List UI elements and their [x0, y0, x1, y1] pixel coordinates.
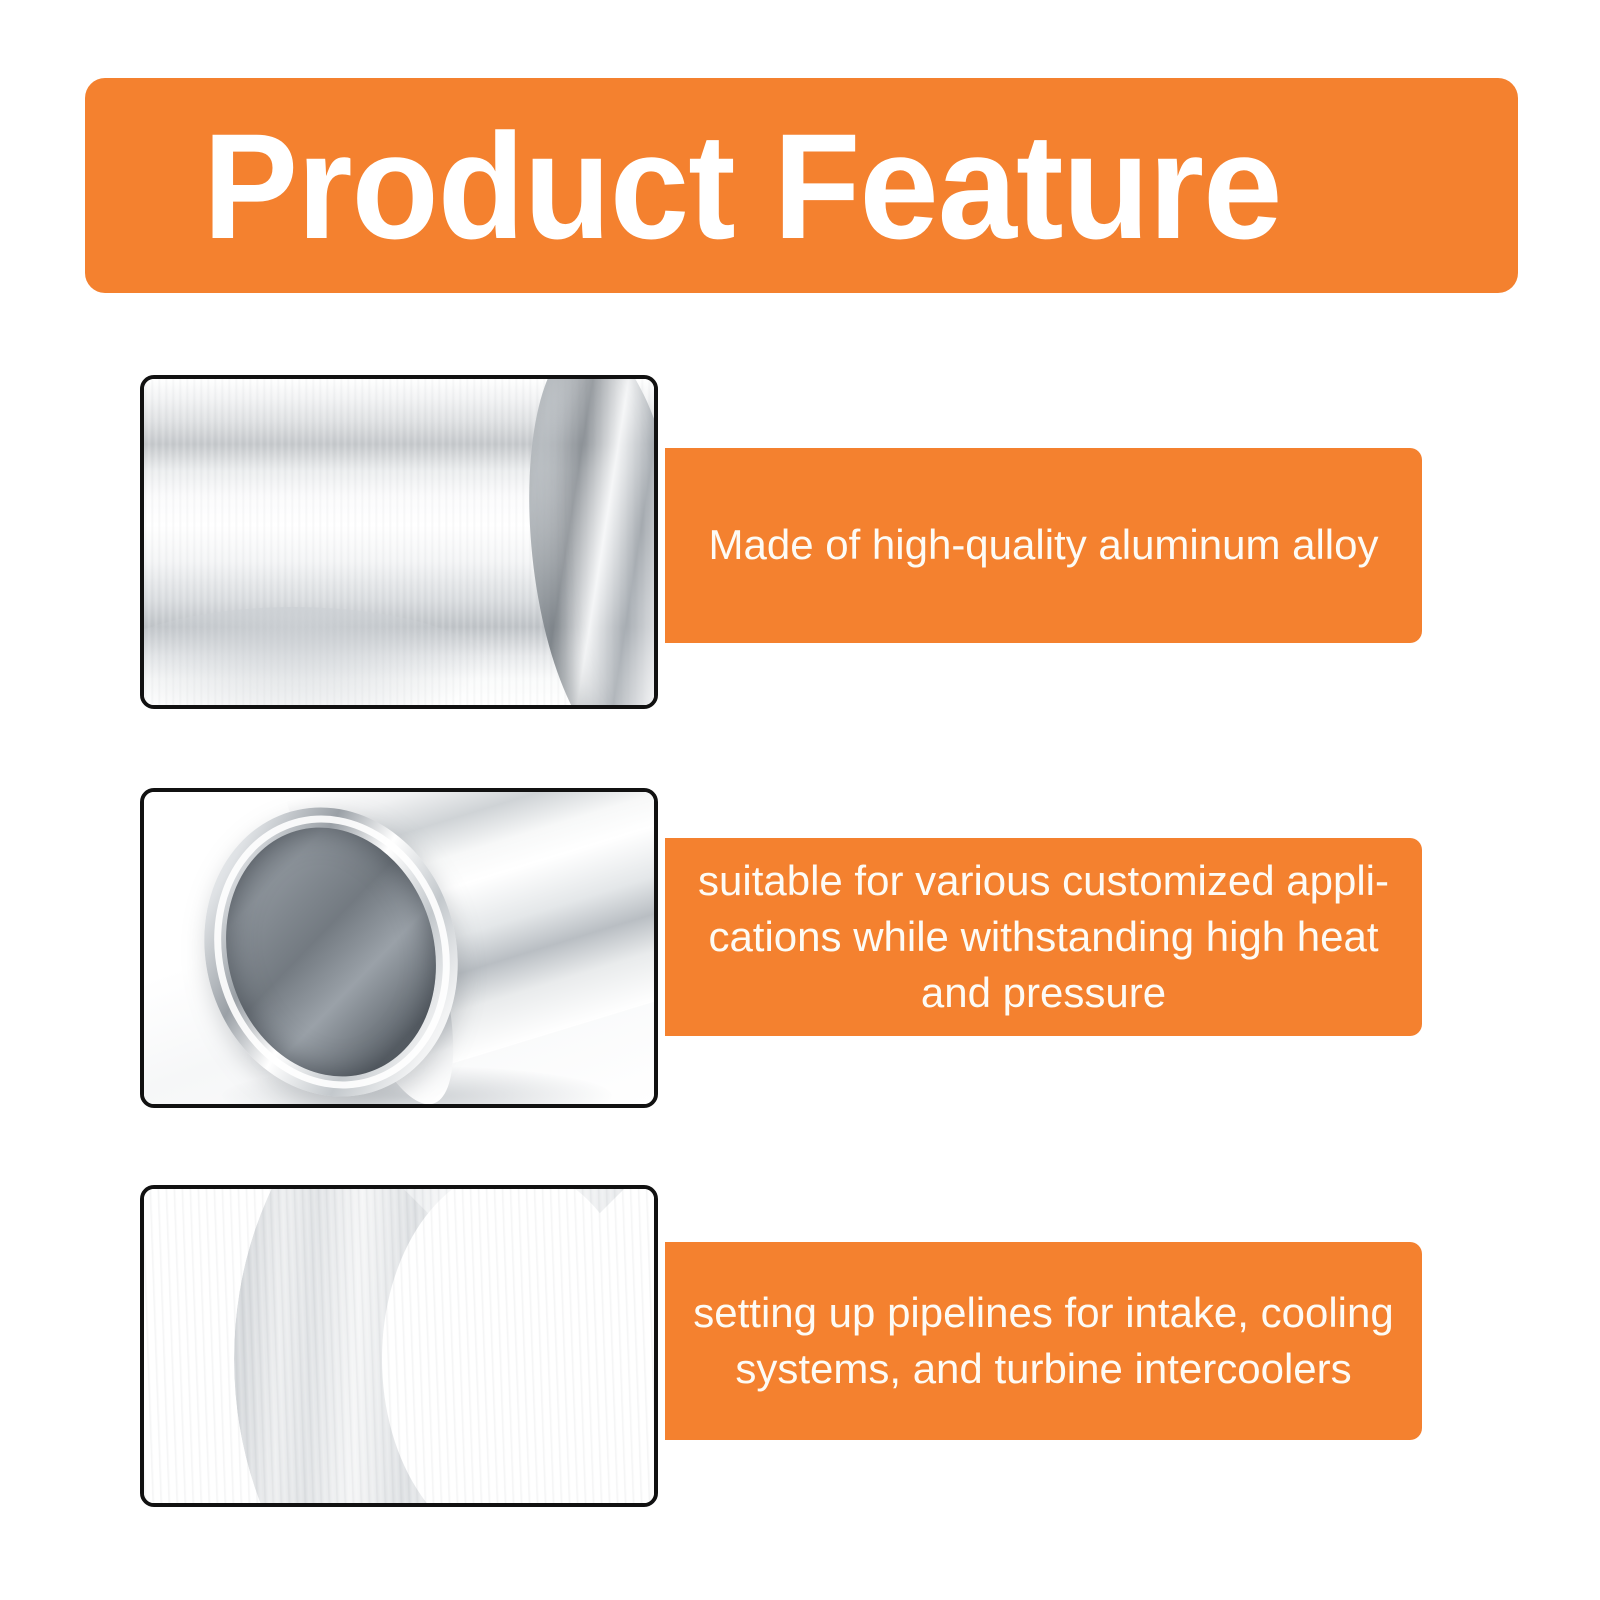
aluminum-pipe-elbow-bend-photo [144, 1189, 654, 1503]
aluminum-pipe-straight-brushed-photo [144, 379, 654, 705]
feature-text-line: cations while withstanding high heat [698, 909, 1389, 965]
pipe-elbow-body [234, 1189, 654, 1503]
feature-text-line: suitable for various customized appli- [698, 853, 1389, 909]
feature-image-card [140, 1185, 658, 1507]
feature-image-card [140, 375, 658, 709]
page-title: Product Feature [203, 111, 1281, 261]
feature-image-card [140, 788, 658, 1108]
aluminum-pipe-open-end-photo [144, 792, 654, 1104]
header-banner: Product Feature [85, 78, 1518, 293]
feature-row: suitable for various customized appli- c… [0, 788, 1600, 1108]
feature-text-line: systems, and turbine intercoolers [693, 1341, 1393, 1397]
feature-text-panel: Made of high-quality aluminum alloy [665, 448, 1422, 643]
feature-row: setting up pipelines for intake, cooling… [0, 1185, 1600, 1507]
feature-text-line: and pressure [698, 965, 1389, 1021]
pipe-bend-shading [144, 607, 504, 705]
feature-row: Made of high-quality aluminum alloy [0, 375, 1600, 710]
feature-text-panel: setting up pipelines for intake, cooling… [665, 1242, 1422, 1440]
feature-text-line: setting up pipelines for intake, cooling [693, 1285, 1393, 1341]
feature-text-panel: suitable for various customized appli- c… [665, 838, 1422, 1036]
feature-text-line: Made of high-quality aluminum alloy [708, 517, 1378, 573]
